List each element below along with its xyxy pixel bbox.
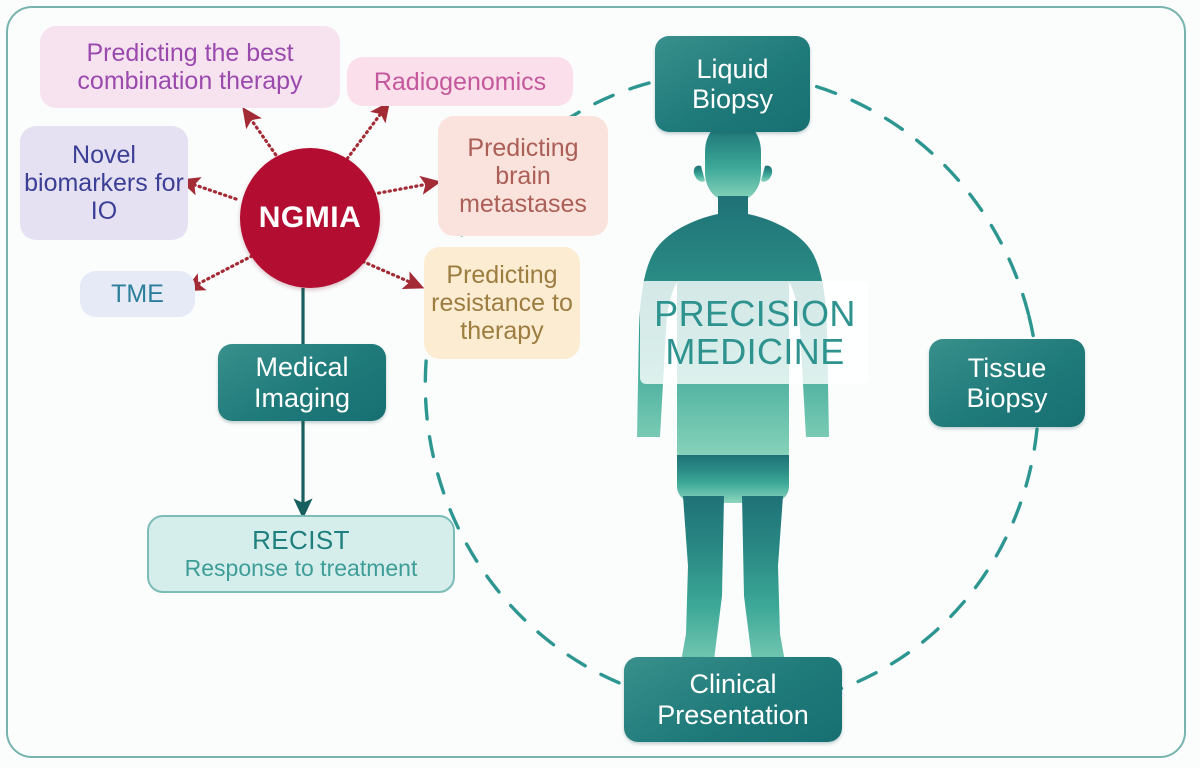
precision-medicine-label: PRECISION MEDICINE [630,283,880,383]
outcome-label-radiogenomics: Radiogenomics [374,68,546,96]
outcome-box-radiogenomics[interactable]: Radiogenomics [347,57,573,106]
outcome-box-combination-therapy[interactable]: Predicting the best combination therapy [40,26,340,108]
outcome-label-combination-therapy: Predicting the best combination therapy [50,39,330,95]
precision-medicine-line2: MEDICINE [665,333,844,371]
outcome-box-brain-metastases[interactable]: Predicting brain metastases [438,116,608,236]
modality-label-clinical-presentation: Clinical Presentation [624,669,842,729]
recist-box[interactable]: RECIST Response to treatment [147,515,455,593]
modality-box-clinical-presentation[interactable]: Clinical Presentation [624,657,842,742]
modality-box-medical-imaging[interactable]: Medical Imaging [218,344,386,421]
precision-medicine-line1: PRECISION [654,295,856,333]
modality-label-tissue-biopsy: Tissue Biopsy [929,353,1085,413]
ngmia-hub-label: NGMIA [259,201,362,235]
outcome-label-resistance-to-therapy: Predicting resistance to therapy [424,261,580,345]
modality-label-medical-imaging: Medical Imaging [218,352,386,412]
modality-label-liquid-biopsy: Liquid Biopsy [655,54,810,114]
modality-box-liquid-biopsy[interactable]: Liquid Biopsy [655,36,810,132]
recist-title: RECIST [252,526,350,555]
outcome-label-novel-biomarkers: Novel biomarkers for IO [20,141,188,225]
modality-box-tissue-biopsy[interactable]: Tissue Biopsy [929,339,1085,427]
diagram-canvas: PRECISION MEDICINE NGMIA Predicting the … [0,0,1200,768]
outcome-box-tme[interactable]: TME [80,271,195,317]
outcome-label-tme: TME [111,280,164,308]
ngmia-hub[interactable]: NGMIA [240,148,380,288]
outcome-label-brain-metastases: Predicting brain metastases [438,134,608,218]
outcome-box-novel-biomarkers[interactable]: Novel biomarkers for IO [20,126,188,240]
recist-subtitle: Response to treatment [185,556,418,582]
outcome-box-resistance-to-therapy[interactable]: Predicting resistance to therapy [424,247,580,359]
